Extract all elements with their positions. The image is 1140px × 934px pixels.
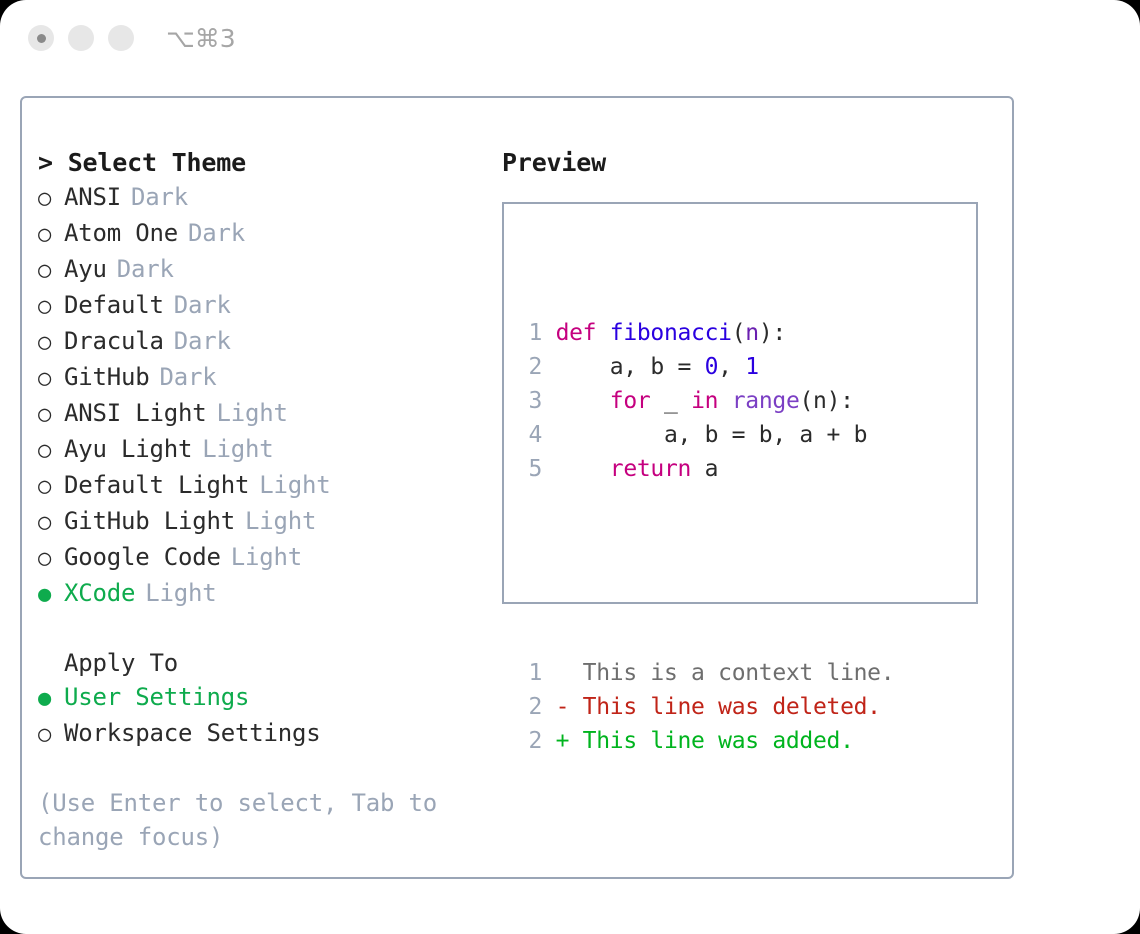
preview-header: Preview — [502, 146, 992, 180]
theme-option-variant-tag: Light — [221, 540, 302, 574]
theme-option-variant-tag: Light — [249, 468, 330, 502]
theme-option-label: Ayu Light — [64, 432, 192, 466]
code-token: _ — [650, 388, 691, 414]
apply-to-option-workspace-settings[interactable]: ○Workspace Settings — [38, 716, 488, 752]
theme-list[interactable]: ○ANSIDark○Atom OneDark○AyuDark○DefaultDa… — [38, 180, 488, 612]
theme-option-label: GitHub Light — [64, 504, 235, 538]
theme-option-label: Dracula — [64, 324, 164, 358]
radio-unselected-icon[interactable]: ○ — [38, 542, 64, 576]
radio-unselected-icon[interactable]: ○ — [38, 218, 64, 252]
theme-option-variant-tag: Light — [135, 576, 216, 610]
apply-to-list[interactable]: ●User Settings○Workspace Settings — [38, 680, 488, 752]
radio-unselected-icon[interactable]: ○ — [38, 326, 64, 360]
diff-line-add: 2 + This line was added. — [520, 724, 894, 758]
radio-unselected-icon[interactable]: ○ — [38, 434, 64, 468]
theme-option-ayu-light[interactable]: ○Ayu LightLight — [38, 432, 488, 468]
theme-option-variant-tag: Dark — [150, 360, 217, 394]
theme-option-atom-one[interactable]: ○Atom OneDark — [38, 216, 488, 252]
code-lines: 1 def fibonacci(n):2 a, b = 0, 13 for _ … — [520, 316, 894, 486]
line-number: 2 — [520, 350, 542, 384]
theme-option-variant-tag: Dark — [107, 252, 174, 286]
theme-option-ansi[interactable]: ○ANSIDark — [38, 180, 488, 216]
theme-option-label: Google Code — [64, 540, 221, 574]
radio-unselected-icon[interactable]: ○ — [38, 182, 64, 216]
theme-option-label: GitHub — [64, 360, 150, 394]
code-line: 4 a, b = b, a + b — [520, 418, 894, 452]
code-token: ( — [732, 320, 746, 346]
line-number: 4 — [520, 418, 542, 452]
main-card: > Select Theme ○ANSIDark○Atom OneDark○Ay… — [20, 96, 1014, 879]
theme-option-ansi-light[interactable]: ○ANSI LightLight — [38, 396, 488, 432]
code-token: 1 — [745, 354, 759, 380]
code-token: ): — [759, 320, 786, 346]
theme-option-label: Ayu — [64, 252, 107, 286]
line-number: 1 — [520, 316, 542, 350]
code-token: in — [691, 388, 718, 414]
window-button-1-dot — [37, 34, 46, 43]
window-button-3[interactable] — [108, 25, 134, 51]
theme-option-xcode[interactable]: ●XCodeLight — [38, 576, 488, 612]
code-token: a, b = — [556, 354, 705, 380]
theme-option-variant-tag: Dark — [164, 324, 231, 358]
code-line: 1 def fibonacci(n): — [520, 316, 894, 350]
code-token: def — [556, 320, 610, 346]
diff-marker: - — [556, 694, 570, 720]
code-token: (n): — [800, 388, 854, 414]
radio-unselected-icon[interactable]: ○ — [38, 506, 64, 540]
code-line: 2 a, b = 0, 1 — [520, 350, 894, 384]
line-number: 2 — [520, 690, 542, 724]
apply-to-header: Apply To — [38, 646, 488, 680]
app-window: ⌥⌘3 > Select Theme ○ANSIDark○Atom OneDar… — [0, 0, 1140, 934]
preview-box: 1 def fibonacci(n):2 a, b = 0, 13 for _ … — [502, 202, 978, 604]
theme-option-default[interactable]: ○DefaultDark — [38, 288, 488, 324]
line-number: 2 — [520, 724, 542, 758]
theme-option-variant-tag: Light — [207, 396, 288, 430]
code-token: n — [745, 320, 759, 346]
radio-unselected-icon[interactable]: ○ — [38, 470, 64, 504]
diff-text: This line was added. — [569, 728, 854, 754]
theme-option-variant-tag: Light — [192, 432, 273, 466]
diff-marker: + — [556, 728, 570, 754]
code-token: 0 — [705, 354, 719, 380]
code-token: for — [610, 388, 651, 414]
theme-option-label: Atom One — [64, 216, 178, 250]
diff-marker — [556, 660, 570, 686]
apply-to-option-user-settings[interactable]: ●User Settings — [38, 680, 488, 716]
preview-code: 1 def fibonacci(n):2 a, b = 0, 13 for _ … — [520, 248, 894, 826]
title-bar: ⌥⌘3 — [0, 0, 1140, 78]
code-token — [556, 388, 610, 414]
spacer — [38, 612, 488, 646]
radio-unselected-icon[interactable]: ○ — [38, 254, 64, 288]
theme-option-github[interactable]: ○GitHubDark — [38, 360, 488, 396]
select-theme-header: > Select Theme — [38, 146, 488, 180]
theme-option-variant-tag: Dark — [164, 288, 231, 322]
theme-selector-panel: > Select Theme ○ANSIDark○Atom OneDark○Ay… — [38, 146, 488, 854]
diff-line-del: 2 - This line was deleted. — [520, 690, 894, 724]
theme-option-google-code[interactable]: ○Google CodeLight — [38, 540, 488, 576]
theme-option-label: ANSI — [64, 180, 121, 214]
code-token: fibonacci — [610, 320, 732, 346]
diff-lines: 1 This is a context line.2 - This line w… — [520, 656, 894, 758]
code-token: a — [691, 456, 718, 482]
code-token — [718, 388, 732, 414]
theme-option-variant-tag: Light — [235, 504, 316, 538]
code-line: 3 for _ in range(n): — [520, 384, 894, 418]
theme-option-label: Default Light — [64, 468, 249, 502]
line-number: 5 — [520, 452, 542, 486]
theme-option-variant-tag: Dark — [178, 216, 245, 250]
keyboard-shortcut-label: ⌥⌘3 — [166, 22, 236, 56]
window-button-1[interactable] — [28, 25, 54, 51]
code-line: 5 return a — [520, 452, 894, 486]
theme-option-default-light[interactable]: ○Default LightLight — [38, 468, 488, 504]
diff-text: This is a context line. — [569, 660, 894, 686]
theme-option-github-light[interactable]: ○GitHub LightLight — [38, 504, 488, 540]
radio-unselected-icon[interactable]: ○ — [38, 290, 64, 324]
apply-to-option-label: User Settings — [64, 680, 249, 714]
diff-line-ctx: 1 This is a context line. — [520, 656, 894, 690]
radio-unselected-icon[interactable]: ○ — [38, 398, 64, 432]
radio-unselected-icon[interactable]: ○ — [38, 362, 64, 396]
theme-option-ayu[interactable]: ○AyuDark — [38, 252, 488, 288]
code-blank-line — [520, 554, 894, 588]
code-token: return — [610, 456, 691, 482]
code-token: a, b = b, a + b — [556, 422, 868, 448]
radio-unselected-icon[interactable]: ○ — [38, 718, 64, 752]
theme-option-variant-tag: Dark — [121, 180, 188, 214]
help-hint-text: (Use Enter to select, Tab to change focu… — [38, 786, 438, 854]
radio-selected-icon[interactable]: ● — [38, 682, 64, 716]
code-token: , — [718, 354, 745, 380]
radio-selected-icon[interactable]: ● — [38, 578, 64, 612]
line-number: 3 — [520, 384, 542, 418]
window-controls — [28, 25, 134, 51]
diff-text: This line was deleted. — [569, 694, 881, 720]
theme-option-dracula[interactable]: ○DraculaDark — [38, 324, 488, 360]
theme-option-label: XCode — [64, 576, 135, 610]
preview-panel: Preview 1 def fibonacci(n):2 a, b = 0, 1… — [502, 146, 992, 604]
line-number: 1 — [520, 656, 542, 690]
theme-option-label: ANSI Light — [64, 396, 207, 430]
theme-option-label: Default — [64, 288, 164, 322]
code-token — [556, 456, 610, 482]
window-button-2[interactable] — [68, 25, 94, 51]
apply-to-option-label: Workspace Settings — [64, 716, 321, 750]
code-token: range — [732, 388, 800, 414]
